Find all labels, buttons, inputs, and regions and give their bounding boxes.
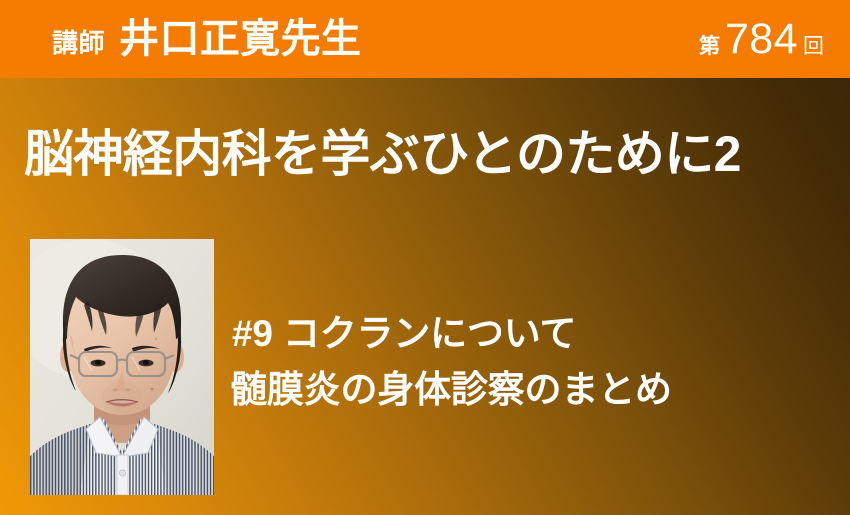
instructor-portrait-photo xyxy=(30,239,214,495)
instructor-label: 講師 xyxy=(52,30,105,56)
episode-badge: 第 784 回 xyxy=(699,18,824,61)
lecture-title-card: 講師 井口正寛先生 第 784 回 脳神経内科を学ぶひとのために2 xyxy=(0,0,850,515)
series-title: 脳神経内科を学ぶひとのために2 xyxy=(24,126,830,183)
episode-number: 784 xyxy=(720,18,803,61)
instructor-name: 井口正寛先生 xyxy=(119,19,361,59)
episode-subtitle: #9 コクランについて 髄膜炎の身体診察のまとめ xyxy=(232,306,832,418)
header-bar: 講師 井口正寛先生 第 784 回 xyxy=(0,0,850,78)
portrait-illustration xyxy=(30,239,214,495)
episode-prefix: 第 xyxy=(699,36,720,57)
instructor-block: 講師 井口正寛先生 xyxy=(52,19,361,59)
episode-suffix: 回 xyxy=(803,36,824,57)
episode-subtitle-line-1: #9 コクランについて xyxy=(232,306,832,362)
episode-subtitle-line-2: 髄膜炎の身体診察のまとめ xyxy=(230,362,832,418)
